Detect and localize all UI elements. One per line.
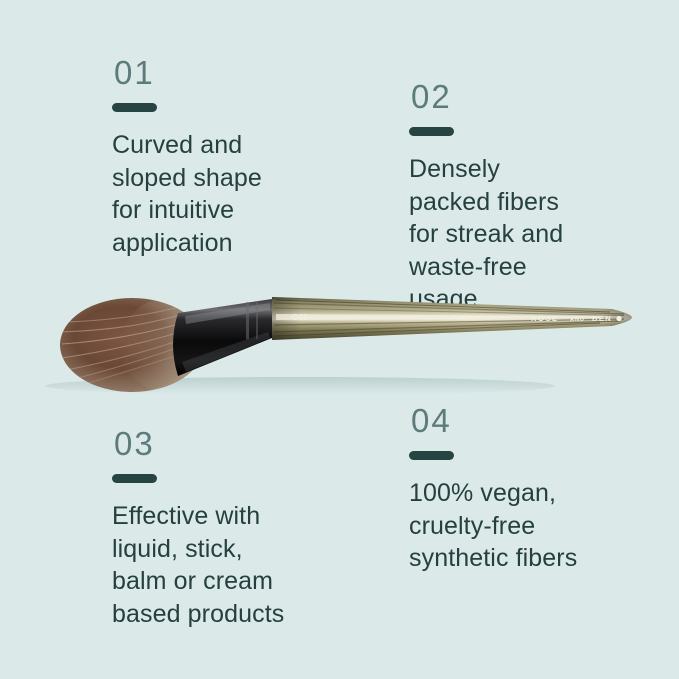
feature-number-04: 04 xyxy=(411,404,659,437)
feature-number-03: 03 xyxy=(114,427,367,460)
product-image-makeup-brush: C42 ROSE AND BEN xyxy=(0,270,679,400)
product-model-code: C42 xyxy=(292,313,308,322)
svg-text:AND: AND xyxy=(570,317,585,323)
feature-block-03: 03 Effective with liquid, stick, balm or… xyxy=(112,427,367,630)
feature-text-03: Effective with liquid, stick, balm or cr… xyxy=(112,500,367,630)
feature-divider-03 xyxy=(112,474,157,483)
feature-divider-01 xyxy=(112,103,157,112)
feature-text-01: Curved and sloped shape for intuitive ap… xyxy=(112,129,362,259)
feature-number-01: 01 xyxy=(114,56,362,89)
feature-text-04: 100% vegan, cruelty-free synthetic fiber… xyxy=(409,477,659,575)
brush-ferrule xyxy=(173,299,272,376)
feature-block-04: 04 100% vegan, cruelty-free synthetic fi… xyxy=(409,404,659,575)
feature-divider-04 xyxy=(409,451,454,460)
feature-number-02: 02 xyxy=(411,80,659,113)
svg-text:ROSE: ROSE xyxy=(531,314,559,323)
svg-text:BEN: BEN xyxy=(592,314,612,323)
feature-divider-02 xyxy=(409,127,454,136)
infographic-canvas: 01 Curved and sloped shape for intuitive… xyxy=(0,0,679,679)
feature-block-01: 01 Curved and sloped shape for intuitive… xyxy=(112,56,362,259)
